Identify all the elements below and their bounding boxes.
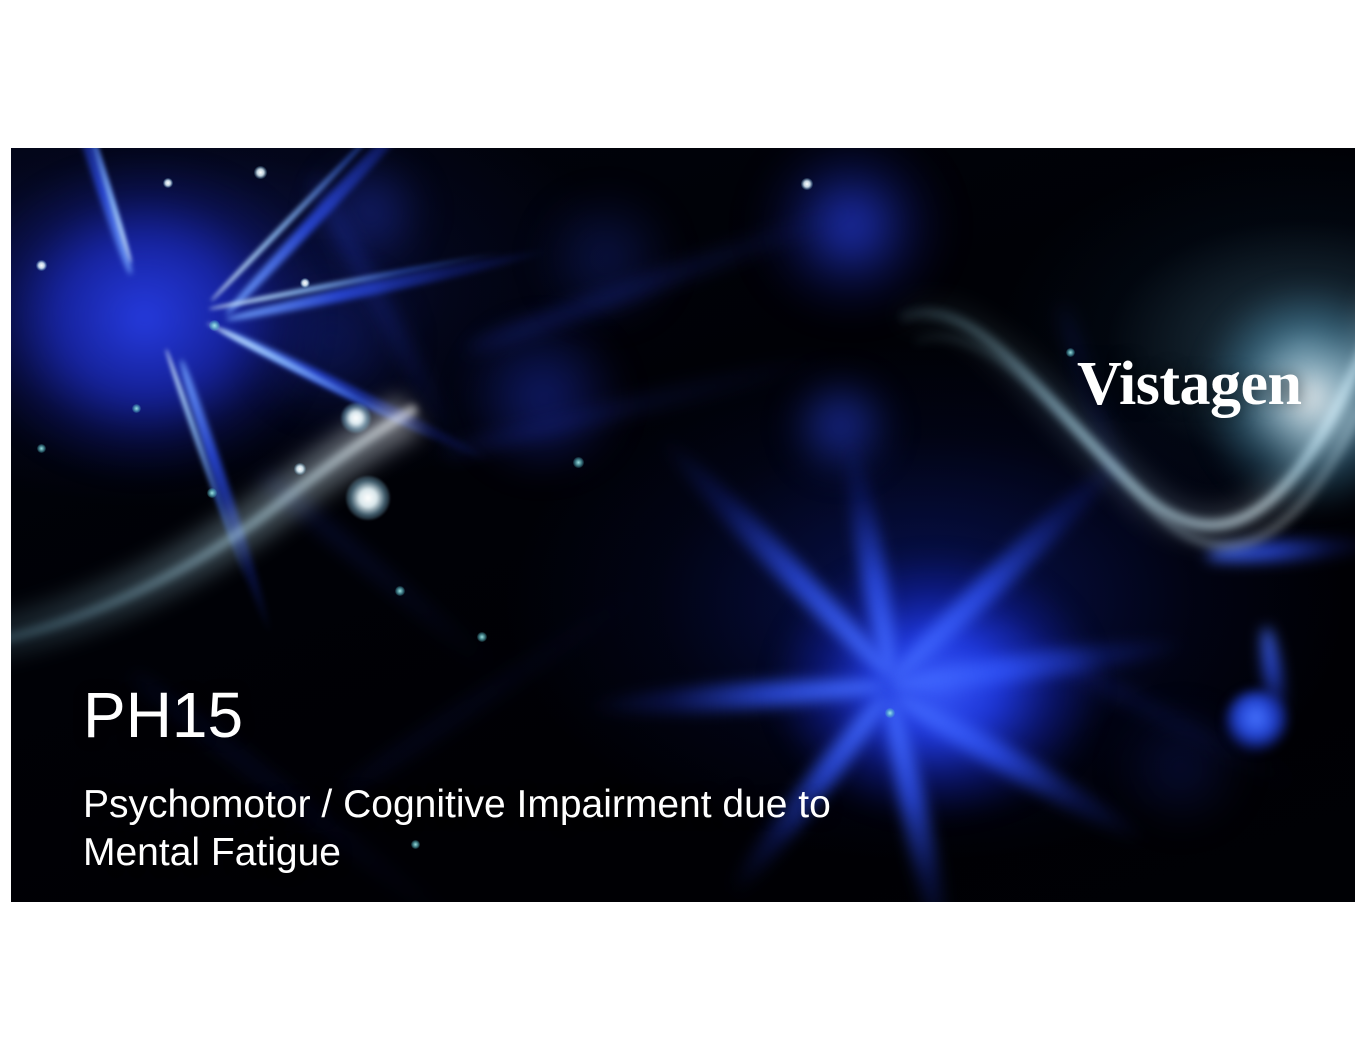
dendrite-terminal-bulb (1225, 690, 1287, 752)
page-title: PH15 (83, 682, 243, 749)
slide-subtitle-line-1: Psychomotor / Cognitive Impairment due t… (83, 781, 1043, 829)
slide-subtitle-line-2: Mental Fatigue (83, 829, 1043, 877)
vistagen-logo: Vistagen (1077, 353, 1301, 415)
page-root: Vistagen PH15 Psychomotor / Cognitive Im… (0, 0, 1365, 1055)
slide-subtitle: Psychomotor / Cognitive Impairment due t… (83, 781, 1043, 876)
presentation-slide[interactable]: Vistagen PH15 Psychomotor / Cognitive Im… (11, 148, 1355, 902)
light-ribbon-left (11, 378, 431, 668)
